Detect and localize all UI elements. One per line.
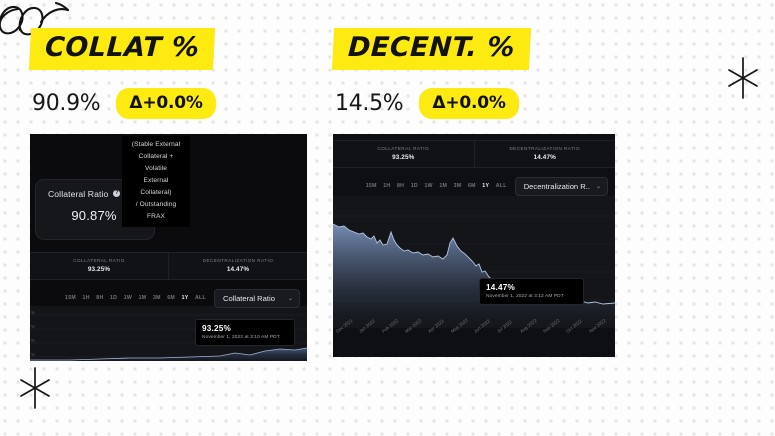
ratio-value-collateral: 93.25% [333,154,474,161]
ratio-label-collateral: COLLATERAL RATIO [333,146,474,151]
ratio-strip-collat: COLLATERAL RATIO 93.25% DECENTRALIZATION… [30,252,307,280]
chart-hover-date: November 1, 2022 at 3:10 AM PDT [202,335,287,340]
ratio-value-collateral: 93.25% [30,266,168,273]
ratio-label-collateral: COLLATERAL RATIO [30,258,168,263]
ratio-value-decentralization: 14.47% [169,266,307,273]
chart-hover-tooltip-collat: 93.25% November 1, 2022 at 3:10 AM PDT [195,319,295,346]
timeframe-all[interactable]: ALL [496,183,507,189]
timeframe-all[interactable]: ALL [195,295,206,301]
collateral-ratio-card-label: Collateral Ratio [48,189,108,199]
chart-plot-decent[interactable] [333,196,615,328]
page-title-decent: DECENT. % [332,28,531,70]
timeframe-6m[interactable]: 6M [167,295,175,301]
star-doodle [726,56,760,100]
metric-select-collat-value: Collateral Ratio [223,294,275,303]
timeframe-8h[interactable]: 8H [397,183,404,189]
timeframe-1m[interactable]: 1M [439,183,447,189]
star-doodle [18,366,52,410]
timeframe-1w[interactable]: 1W [124,295,132,301]
chart-toolbar-decent: 15M 1H 8H 1D 1W 1M 3M 6M 1Y ALL Decentra… [333,172,615,201]
timeframe-15m[interactable]: 15M [366,183,377,189]
timeframe-1y[interactable]: 1Y [482,183,489,189]
chart-toolbar-collat: 15M 1H 8H 1D 1W 1M 3M 6M 1Y ALL Collater… [30,284,307,313]
help-icon[interactable]: ? [113,190,120,197]
timeframe-1h[interactable]: 1H [383,183,390,189]
chevron-down-icon: ⌄ [596,183,601,190]
ratio-cell-collateral[interactable]: COLLATERAL RATIO 93.25% [30,253,168,279]
stat-row-collat: 90.9% Δ+0.0% [30,88,322,119]
chart-hover-value: 14.47% [486,283,576,292]
panel-decent: DECENT. % 14.5% Δ+0.0% COLLATERAL RATIO … [333,28,625,357]
timeframe-1m[interactable]: 1M [139,295,147,301]
chart-hover-date: November 1, 2022 at 3:12 AM PDT [486,294,576,299]
chart-hover-tooltip-decent: 14.47% November 1, 2022 at 3:12 AM PDT [479,278,584,305]
chevron-down-icon: ⌄ [288,295,293,302]
stat-value-collat: 90.9% [32,91,100,116]
stat-row-decent: 14.5% Δ+0.0% [333,88,625,119]
status-badge-decent-delta: Δ+0.0% [419,88,518,119]
timeframe-8h[interactable]: 8H [96,295,103,301]
metric-select-decent-value: Decentralization R.. [524,182,590,191]
ratio-strip-decent: COLLATERAL RATIO 93.25% DECENTRALIZATION… [333,140,615,168]
timeframe-1d[interactable]: 1D [411,183,418,189]
metric-select-collat[interactable]: Collateral Ratio ⌄ [214,289,300,308]
ratio-cell-collateral[interactable]: COLLATERAL RATIO 93.25% [333,141,474,167]
timeframe-1h[interactable]: 1H [83,295,90,301]
timeframe-list-decent: 15M 1H 8H 1D 1W 1M 3M 6M 1Y ALL [366,183,507,189]
page-title-collat: COLLAT % [29,28,216,70]
chart-hover-value: 93.25% [202,324,287,333]
timeframe-15m[interactable]: 15M [65,295,76,301]
metric-select-decent[interactable]: Decentralization R.. ⌄ [515,177,608,196]
ratio-cell-decentralization[interactable]: DECENTRALIZATION RATIO 14.47% [168,253,307,279]
timeframe-list-collat: 15M 1H 8H 1D 1W 1M 3M 6M 1Y ALL [65,295,206,301]
panel-collat: COLLAT % 90.9% Δ+0.0% (Stable External C… [30,28,322,361]
timeframe-1y[interactable]: 1Y [182,295,189,301]
y-tick: % [31,324,35,329]
app-screenshot-decent: COLLATERAL RATIO 93.25% DECENTRALIZATION… [333,134,615,357]
ratio-cell-decentralization[interactable]: DECENTRALIZATION RATIO 14.47% [474,141,616,167]
timeframe-3m[interactable]: 3M [153,295,161,301]
timeframe-1w[interactable]: 1W [424,183,432,189]
ratio-value-decentralization: 14.47% [475,154,616,161]
chart-xaxis-decent: Dec 2021 Jan 2022 Feb 2022 Mar 2022 Apr … [333,330,615,356]
app-screenshot-collat: (Stable External Collateral + Volatile E… [30,134,307,361]
timeframe-6m[interactable]: 6M [468,183,476,189]
ratio-label-decentralization: DECENTRALIZATION RATIO [475,146,616,151]
timeframe-1d[interactable]: 1D [110,295,117,301]
ratio-label-decentralization: DECENTRALIZATION RATIO [169,258,307,263]
collateral-ratio-info-tooltip: (Stable External Collateral + Volatile E… [122,136,190,227]
y-tick: % [31,338,35,343]
status-badge-collat-delta: Δ+0.0% [116,88,215,119]
timeframe-3m[interactable]: 3M [454,183,462,189]
y-tick: % [31,352,35,357]
stat-value-decent: 14.5% [335,91,403,116]
